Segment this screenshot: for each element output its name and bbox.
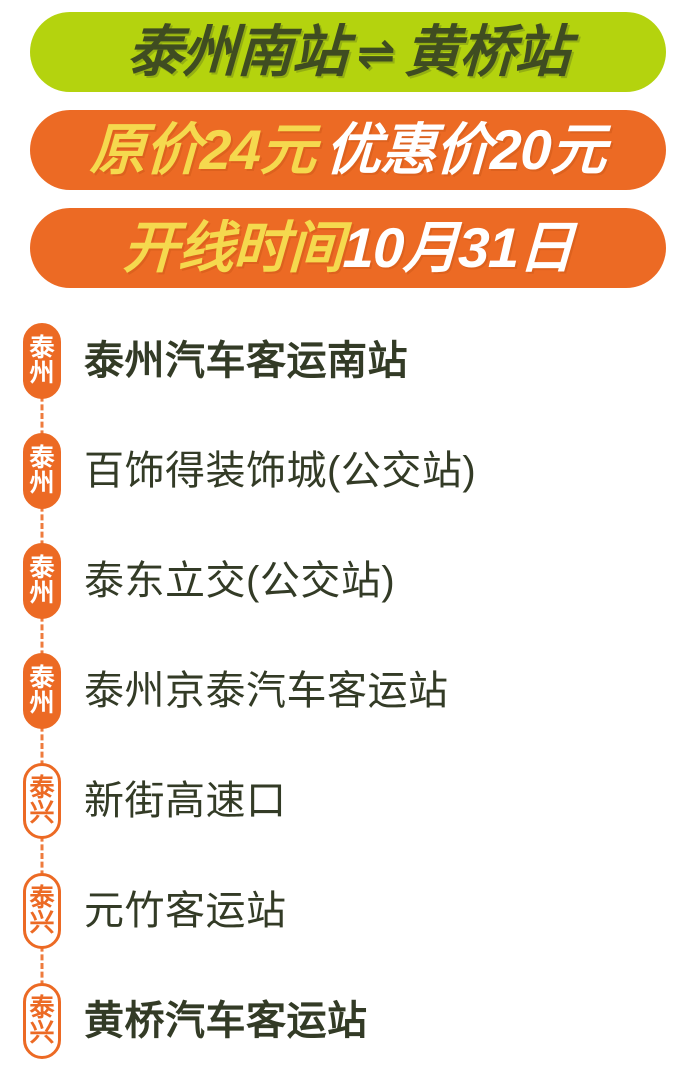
station-marker-column: 泰兴 xyxy=(0,746,84,856)
bus-route-poster: 泰州南站⇌黄桥站 原价24元优惠价20元 开线时间10月31日 泰州泰州汽车客运… xyxy=(0,0,680,1086)
station-name-label: 元竹客运站 xyxy=(84,891,287,931)
station-marker-column: 泰兴 xyxy=(0,856,84,966)
zone-badge-char-1: 泰 xyxy=(29,336,54,362)
launch-date-label: 开线时间 xyxy=(122,216,344,279)
date-banner-text: 开线时间10月31日 xyxy=(122,220,575,276)
zone-badge-char-2: 兴 xyxy=(29,1021,54,1047)
bidirectional-arrow-icon: ⇌ xyxy=(346,27,405,79)
route-banner: 泰州南站⇌黄桥站 xyxy=(30,12,666,92)
zone-badge-char-2: 州 xyxy=(29,471,54,497)
zone-badge: 泰州 xyxy=(23,433,61,509)
route-destination-label: 黄桥站 xyxy=(403,20,570,83)
zone-badge-char-1: 泰 xyxy=(29,886,54,912)
zone-badge: 泰兴 xyxy=(23,983,61,1059)
station-marker-column: 泰州 xyxy=(0,416,84,526)
zone-badge-char-2: 州 xyxy=(29,691,54,717)
zone-badge-char-1: 泰 xyxy=(29,996,54,1022)
station-row[interactable]: 泰兴黄桥汽车客运站 xyxy=(0,966,680,1076)
zone-badge-char-2: 州 xyxy=(29,361,54,387)
date-banner: 开线时间10月31日 xyxy=(30,208,666,288)
zone-badge: 泰兴 xyxy=(23,763,61,839)
route-origin-label: 泰州南站 xyxy=(126,20,348,83)
station-name-label: 黄桥汽车客运站 xyxy=(84,1001,368,1041)
original-price-label: 原价24元 xyxy=(89,118,316,181)
station-row[interactable]: 泰州泰东立交(公交站) xyxy=(0,526,680,636)
zone-badge: 泰州 xyxy=(23,323,61,399)
zone-badge: 泰州 xyxy=(23,653,61,729)
zone-badge: 泰兴 xyxy=(23,873,61,949)
route-banner-text: 泰州南站⇌黄桥站 xyxy=(126,24,571,80)
station-row[interactable]: 泰兴元竹客运站 xyxy=(0,856,680,966)
zone-badge: 泰州 xyxy=(23,543,61,619)
station-row[interactable]: 泰州泰州京泰汽车客运站 xyxy=(0,636,680,746)
station-name-label: 泰州京泰汽车客运站 xyxy=(84,671,449,711)
station-marker-column: 泰州 xyxy=(0,526,84,636)
station-row[interactable]: 泰州百饰得装饰城(公交站) xyxy=(0,416,680,526)
station-name-label: 百饰得装饰城(公交站) xyxy=(84,451,476,491)
zone-badge-char-1: 泰 xyxy=(29,776,54,802)
station-marker-column: 泰州 xyxy=(0,306,84,416)
banner-stack: 泰州南站⇌黄桥站 原价24元优惠价20元 开线时间10月31日 xyxy=(30,12,666,306)
station-row[interactable]: 泰兴新街高速口 xyxy=(0,746,680,856)
zone-badge-char-1: 泰 xyxy=(29,666,54,692)
price-banner-text: 原价24元优惠价20元 xyxy=(89,122,607,178)
station-marker-column: 泰州 xyxy=(0,636,84,746)
station-name-label: 泰州汽车客运南站 xyxy=(84,341,408,381)
station-row[interactable]: 泰州泰州汽车客运南站 xyxy=(0,306,680,416)
station-marker-column: 泰兴 xyxy=(0,966,84,1076)
zone-badge-char-2: 兴 xyxy=(29,801,54,827)
launch-date-value: 10月31日 xyxy=(342,216,575,279)
price-banner: 原价24元优惠价20元 xyxy=(30,110,666,190)
station-list: 泰州泰州汽车客运南站泰州百饰得装饰城(公交站)泰州泰东立交(公交站)泰州泰州京泰… xyxy=(0,306,680,1076)
station-name-label: 新街高速口 xyxy=(84,781,287,821)
zone-badge-char-1: 泰 xyxy=(29,446,54,472)
discount-price-label: 优惠价20元 xyxy=(324,118,606,181)
zone-badge-char-1: 泰 xyxy=(29,556,54,582)
station-name-label: 泰东立交(公交站) xyxy=(84,561,395,601)
zone-badge-char-2: 兴 xyxy=(29,911,54,937)
zone-badge-char-2: 州 xyxy=(29,581,54,607)
